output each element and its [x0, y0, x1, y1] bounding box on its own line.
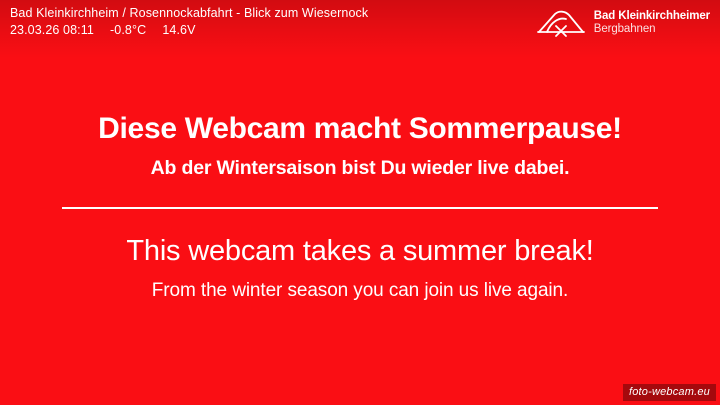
message-divider	[62, 207, 658, 209]
foto-webcam-watermark: foto-webcam.eu	[623, 384, 716, 401]
german-headline: Diese Webcam macht Sommerpause!	[98, 112, 622, 145]
german-subline: Ab der Wintersaison bist Du wieder live …	[151, 157, 570, 179]
english-subline: From the winter season you can join us l…	[152, 280, 568, 302]
summer-break-message: Diese Webcam macht Sommerpause! Ab der W…	[0, 0, 720, 405]
english-headline: This webcam takes a summer break!	[126, 236, 593, 268]
